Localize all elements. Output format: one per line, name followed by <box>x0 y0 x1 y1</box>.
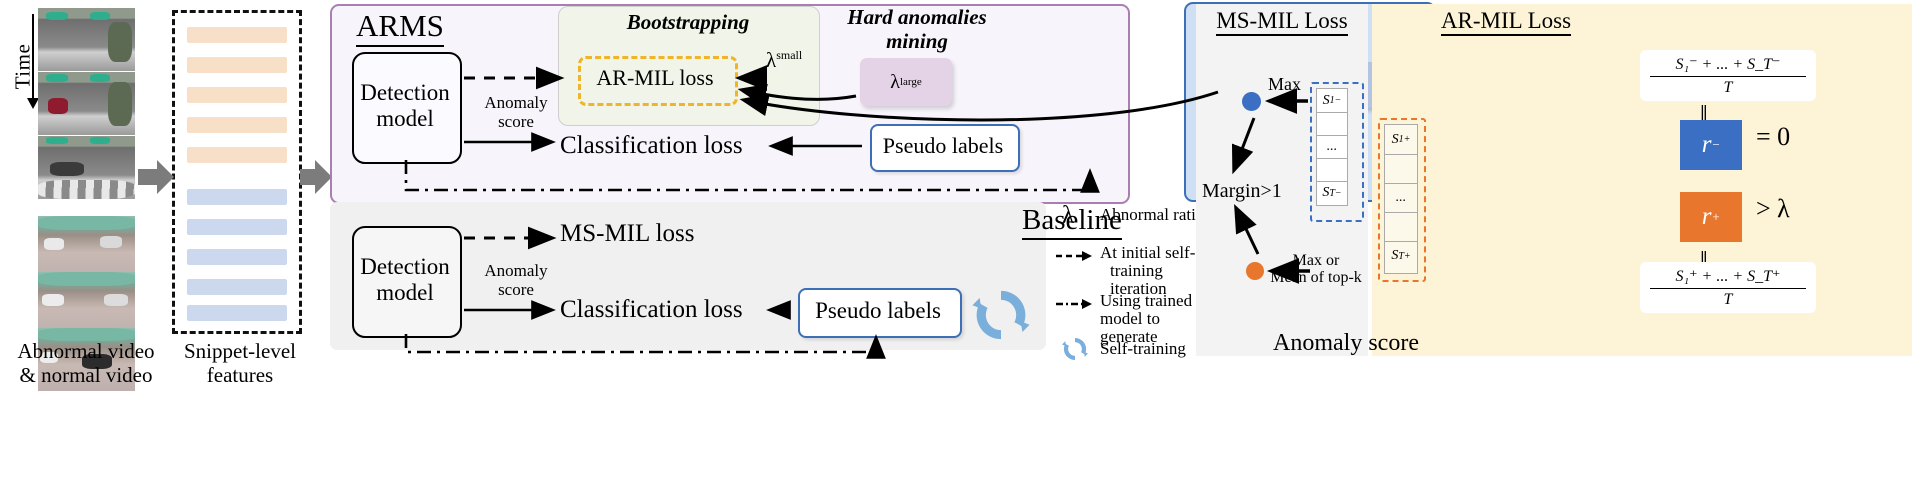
positive-cell-4 <box>1385 212 1417 242</box>
ms-mil-loss-title: MS-MIL Loss <box>1196 8 1368 34</box>
self-training-cycle-icon-baseline <box>968 282 1034 348</box>
arms-title: ARMS <box>356 8 444 47</box>
neg-first-s: S <box>1323 93 1330 109</box>
snippet-features-box <box>172 10 302 334</box>
snippet-normal-2 <box>187 219 287 235</box>
positive-snippet-column: S1+ ... ST+ <box>1384 124 1418 274</box>
max-or-line1: Max or <box>1264 252 1368 269</box>
lambda-large-superscript: large <box>900 76 922 88</box>
snippet-normal-1 <box>187 189 287 205</box>
negative-cell-last: ST− <box>1317 181 1347 205</box>
positive-mean-formula: S₁⁺ + ... + S_T⁺ T <box>1640 262 1816 313</box>
block-arrow-icon-1 <box>138 160 174 194</box>
r-positive-superscript: + <box>1711 209 1720 225</box>
r-negative-superscript: − <box>1711 137 1720 153</box>
ar-mil-loss-title: AR-MIL Loss <box>1372 8 1640 34</box>
video-frame-normal-2 <box>38 272 135 335</box>
r-negative-box: r− <box>1680 120 1742 170</box>
arms-anomaly-score-label: Anomaly score <box>470 94 562 131</box>
pos-last-sup: + <box>1404 251 1411 262</box>
snippet-normal-4 <box>187 279 287 295</box>
negative-cell-ellipsis: ... <box>1317 135 1347 159</box>
max-or-mean-label: Max or Mean of top-k <box>1264 252 1368 287</box>
snippet-abnormal-3 <box>187 87 287 103</box>
anomaly-score-caption: Anomaly score <box>1196 330 1496 357</box>
video-frame-normal-1 <box>38 216 135 279</box>
r-negative-symbol: r <box>1702 131 1712 159</box>
r-positive-symbol: r <box>1702 203 1712 231</box>
max-label: Max <box>1268 74 1301 95</box>
video-frame-abnormal-3 <box>38 136 135 199</box>
legend-lambda-text: Abnormal ratio <box>1100 206 1204 224</box>
ar-mil-title-text: AR-MIL Loss <box>1441 8 1571 36</box>
ham-title-line1: Hard anomalies <box>820 6 1014 30</box>
time-axis: Time <box>4 8 40 188</box>
negative-cell-2 <box>1317 112 1347 136</box>
baseline-ms-mil-loss-label: MS-MIL loss <box>560 220 695 248</box>
negative-mean-formula: S₁⁻ + ... + S_T⁻ T <box>1640 50 1816 101</box>
r-positive-box: r+ <box>1680 192 1742 242</box>
snippet-abnormal-2 <box>187 57 287 73</box>
lambda-small-superscript: small <box>776 48 802 62</box>
arms-classification-loss-label: Classification loss <box>560 132 743 160</box>
neg-first-sup: − <box>1335 95 1342 106</box>
videos-caption-line2: & normal video <box>0 364 172 388</box>
ms-mil-title-text: MS-MIL Loss <box>1216 8 1347 36</box>
video-frame-abnormal-2 <box>38 72 135 135</box>
lambda-small-label: λsmall <box>766 48 802 73</box>
snippet-abnormal-4 <box>187 117 287 133</box>
neg-last-s: S <box>1322 185 1329 201</box>
positive-cell-last: ST+ <box>1385 241 1417 271</box>
det2-line1: Detection <box>360 254 449 280</box>
snippet-abnormal-1 <box>187 27 287 43</box>
anom1-line1: Anomaly <box>470 94 562 113</box>
snippet-normal-5 <box>187 305 287 321</box>
arms-pseudo-labels-label: Pseudo labels <box>870 124 1016 168</box>
snippet-abnormal-5 <box>187 147 287 163</box>
baseline-anomaly-score-label: Anomaly score <box>470 262 562 299</box>
anom2-line2: score <box>470 281 562 300</box>
arms-detection-model-label: Detection model <box>352 52 458 160</box>
negative-cell-4 <box>1317 158 1347 182</box>
features-caption-line1: Snippet-level <box>160 340 320 364</box>
det1-line1: Detection <box>360 80 449 106</box>
det2-line2: model <box>360 280 449 306</box>
lambda-large-label: λlarge <box>860 58 952 106</box>
positive-cell-2 <box>1385 154 1417 184</box>
frac-top-denominator: T <box>1650 77 1806 97</box>
dash-dot-arrow-icon <box>1056 298 1096 310</box>
time-arrow-icon <box>32 14 34 100</box>
self-training-cycle-icon-legend <box>1058 334 1092 364</box>
pos-first-s: S <box>1392 132 1399 148</box>
margin-label: Margin>1 <box>1202 180 1282 203</box>
lambda-symbol-icon: λ <box>1062 202 1074 230</box>
bootstrapping-title: Bootstrapping <box>558 10 818 35</box>
features-caption-line2: features <box>160 364 320 388</box>
dashed-arrow-icon <box>1056 250 1096 262</box>
r-negative-relation: = 0 <box>1756 122 1790 152</box>
legend-self-training-text: Self-training <box>1100 340 1186 358</box>
video-frame-abnormal-1 <box>38 8 135 71</box>
baseline-pseudo-labels-label: Pseudo labels <box>798 288 958 334</box>
hard-anomalies-mining-title: Hard anomalies mining <box>820 6 1014 53</box>
anom2-line1: Anomaly <box>470 262 562 281</box>
frac-bot-denominator: T <box>1650 289 1806 309</box>
anom1-line2: score <box>470 113 562 132</box>
positive-score-dot <box>1246 262 1264 280</box>
block-arrow-icon-2 <box>300 160 332 194</box>
r-positive-relation: > λ <box>1756 194 1790 224</box>
legend-dashdot-text-line1: Using trained <box>1100 292 1192 310</box>
pos-first-sup: + <box>1404 134 1411 145</box>
ham-title-line2: mining <box>820 30 1014 54</box>
positive-cell-ellipsis: ... <box>1385 183 1417 213</box>
ar-mil-loss-label: AR-MIL loss <box>578 56 732 100</box>
videos-caption-line1: Abnormal video <box>0 340 172 364</box>
max-or-line2: Mean of top-k <box>1264 269 1368 286</box>
legend-dashed-text-line1: At initial self- <box>1100 244 1195 262</box>
det1-line2: model <box>360 106 449 132</box>
legend: λ Abnormal ratio At initial self- traini… <box>1054 202 1204 362</box>
snippet-normal-3 <box>187 249 287 265</box>
positive-cell-first: S1+ <box>1385 125 1417 155</box>
videos-caption: Abnormal video & normal video <box>0 340 172 388</box>
neg-last-sup: − <box>1335 188 1342 199</box>
negative-cell-first: S1− <box>1317 89 1347 113</box>
baseline-classification-loss-label: Classification loss <box>560 296 743 324</box>
lambda-large-symbol: λ <box>890 71 900 94</box>
features-caption: Snippet-level features <box>160 340 320 388</box>
frac-bot-numerator: S₁⁺ + ... + S_T⁺ <box>1650 266 1806 289</box>
lambda-small-symbol: λ <box>766 48 776 72</box>
baseline-detection-model-label: Detection model <box>352 226 458 334</box>
pos-last-s: S <box>1391 248 1398 264</box>
negative-snippet-column: S1− ... ST− <box>1316 88 1348 206</box>
negative-score-dot <box>1242 92 1261 111</box>
frac-top-numerator: S₁⁻ + ... + S_T⁻ <box>1650 54 1806 77</box>
